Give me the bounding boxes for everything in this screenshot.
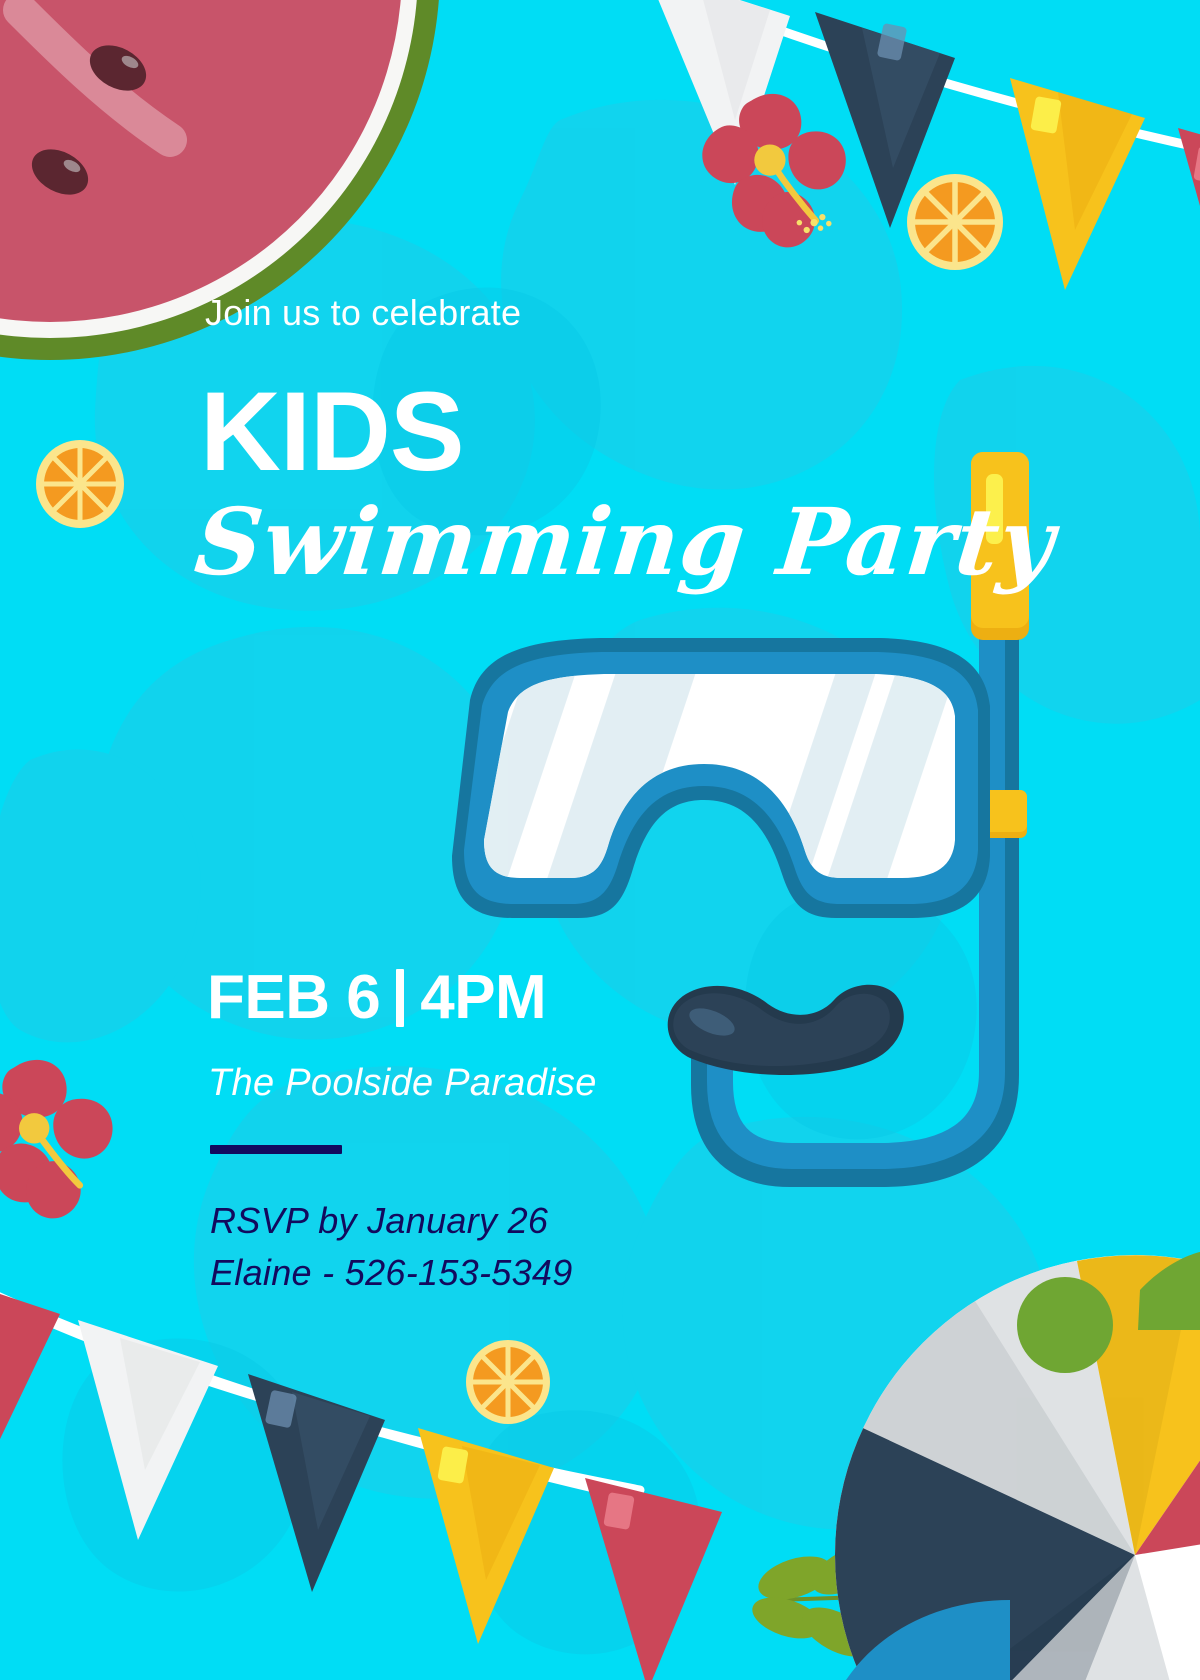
event-venue: The Poolside Paradise bbox=[208, 1062, 597, 1105]
section-divider bbox=[210, 1145, 342, 1154]
event-datetime: FEB 6 4PM bbox=[207, 965, 546, 1031]
page-title: KIDS bbox=[200, 378, 464, 486]
rsvp-block: RSVP by January 26 Elaine - 526-153-5349 bbox=[210, 1195, 573, 1299]
intro-line: Join us to celebrate bbox=[205, 292, 521, 334]
datetime-separator-icon bbox=[396, 969, 404, 1027]
page-subtitle: Swimming Party bbox=[191, 494, 1059, 590]
poster-text-content: Join us to celebrate KIDS Swimming Party… bbox=[0, 0, 1200, 1680]
rsvp-deadline: RSVP by January 26 bbox=[210, 1195, 573, 1247]
invitation-poster: Join us to celebrate KIDS Swimming Party… bbox=[0, 0, 1200, 1680]
rsvp-contact: Elaine - 526-153-5349 bbox=[210, 1247, 573, 1299]
event-time: 4PM bbox=[420, 965, 546, 1031]
event-date: FEB 6 bbox=[207, 965, 380, 1031]
